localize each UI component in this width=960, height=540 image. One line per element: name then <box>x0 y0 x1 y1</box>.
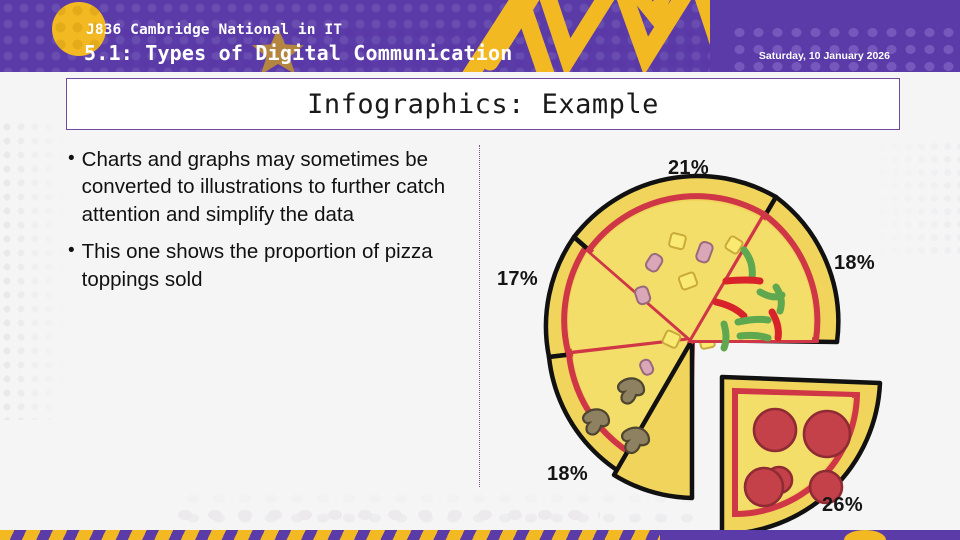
bullet-dot-icon: • <box>68 238 75 263</box>
pie-label-right: 18% <box>834 252 875 275</box>
course-code: J836 Cambridge National in IT <box>86 22 342 38</box>
footer-dots-icon <box>170 504 600 530</box>
bullet-list: • Charts and graphs may sometimes be con… <box>68 146 473 303</box>
slide-title-box: Infographics: Example <box>66 78 900 130</box>
bullet-dot-icon: • <box>68 146 75 171</box>
header-right-dots-icon <box>730 24 960 72</box>
vertical-dotted-divider <box>479 145 480 487</box>
header-date: Saturday, 10 January 2026 <box>759 50 890 62</box>
list-item-text: This one shows the proportion of pizza t… <box>82 238 473 293</box>
list-item: • Charts and graphs may sometimes be con… <box>68 146 473 228</box>
lesson-title: 5.1: Types of Digital Communication <box>84 41 512 65</box>
page-title: Infographics: Example <box>307 89 659 120</box>
footer-solid-band <box>660 530 960 540</box>
background-halftone-left <box>0 120 66 420</box>
pie-label-bottom: 18% <box>547 463 588 486</box>
slide-header: J836 Cambridge National in IT 5.1: Types… <box>0 0 960 72</box>
pie-label-left: 17% <box>497 268 538 291</box>
list-item-text: Charts and graphs may sometimes be conve… <box>82 146 473 228</box>
footer-circle-icon <box>844 530 886 540</box>
footer-stripe-band <box>0 530 700 540</box>
slide: J836 Cambridge National in IT 5.1: Types… <box>0 0 960 540</box>
pie-label-top: 21% <box>668 157 709 180</box>
list-item: • This one shows the proportion of pizza… <box>68 238 473 293</box>
pizza-pie-chart: 21% 18% 26% 18% 17% <box>486 142 960 538</box>
pie-label-bottom-right: 26% <box>822 494 863 517</box>
